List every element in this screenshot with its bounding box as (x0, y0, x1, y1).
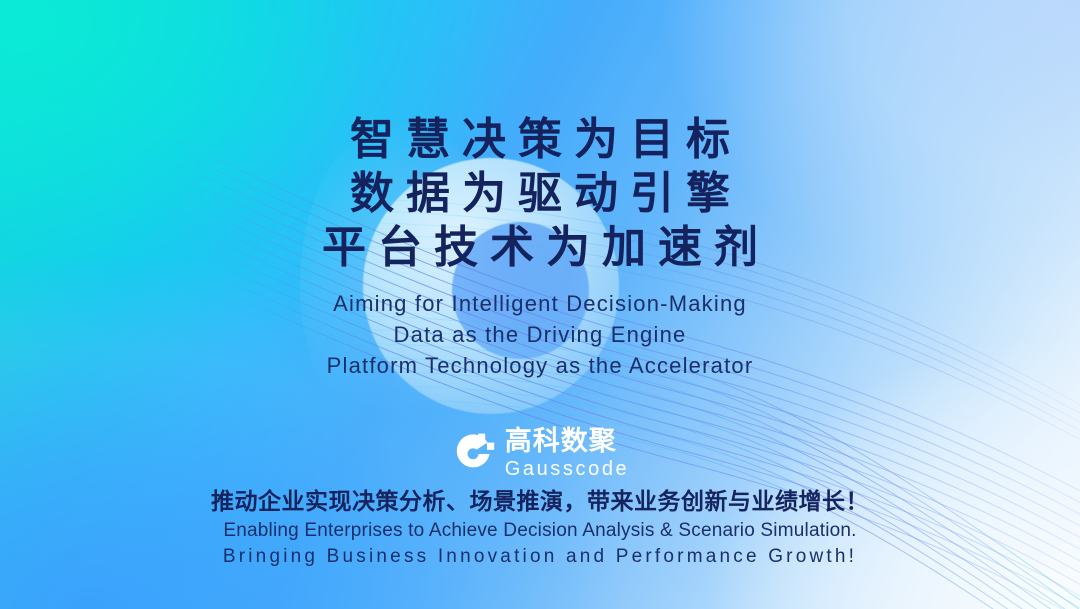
headline: 智慧决策为目标 数据为驱动引擎 平台技术为加速剂 (0, 113, 1080, 275)
gausscode-logo-mark-icon (451, 432, 495, 476)
logo: 高科数聚 Gausscode (0, 428, 1080, 479)
headline-line-2: 数据为驱动引擎 (0, 167, 1080, 221)
logo-name-cn: 高科数聚 (505, 428, 617, 455)
tagline-english-line-2: Bringing Business Innovation and Perform… (0, 544, 1080, 570)
subtitle-line-2: Data as the Driving Engine (0, 319, 1080, 350)
tagline-chinese: 推动企业实现决策分析、场景推演，带来业务创新与业绩增长！ (0, 482, 1080, 516)
tagline-english-line-1: Enabling Enterprises to Achieve Decision… (0, 518, 1080, 544)
subtitle: Aiming for Intelligent Decision-Making D… (0, 288, 1080, 381)
logo-wordmark: 高科数聚 Gausscode (505, 428, 630, 479)
poster-content: 智慧决策为目标 数据为驱动引擎 平台技术为加速剂 Aiming for Inte… (0, 0, 1080, 609)
subtitle-line-1: Aiming for Intelligent Decision-Making (0, 288, 1080, 319)
headline-line-3: 平台技术为加速剂 (0, 221, 1080, 275)
logo-name-en: Gausscode (505, 459, 630, 479)
headline-line-1: 智慧决策为目标 (0, 113, 1080, 167)
subtitle-line-3: Platform Technology as the Accelerator (0, 350, 1080, 381)
tagline-english: Enabling Enterprises to Achieve Decision… (0, 518, 1080, 570)
poster-canvas: 智慧决策为目标 数据为驱动引擎 平台技术为加速剂 Aiming for Inte… (0, 0, 1080, 609)
